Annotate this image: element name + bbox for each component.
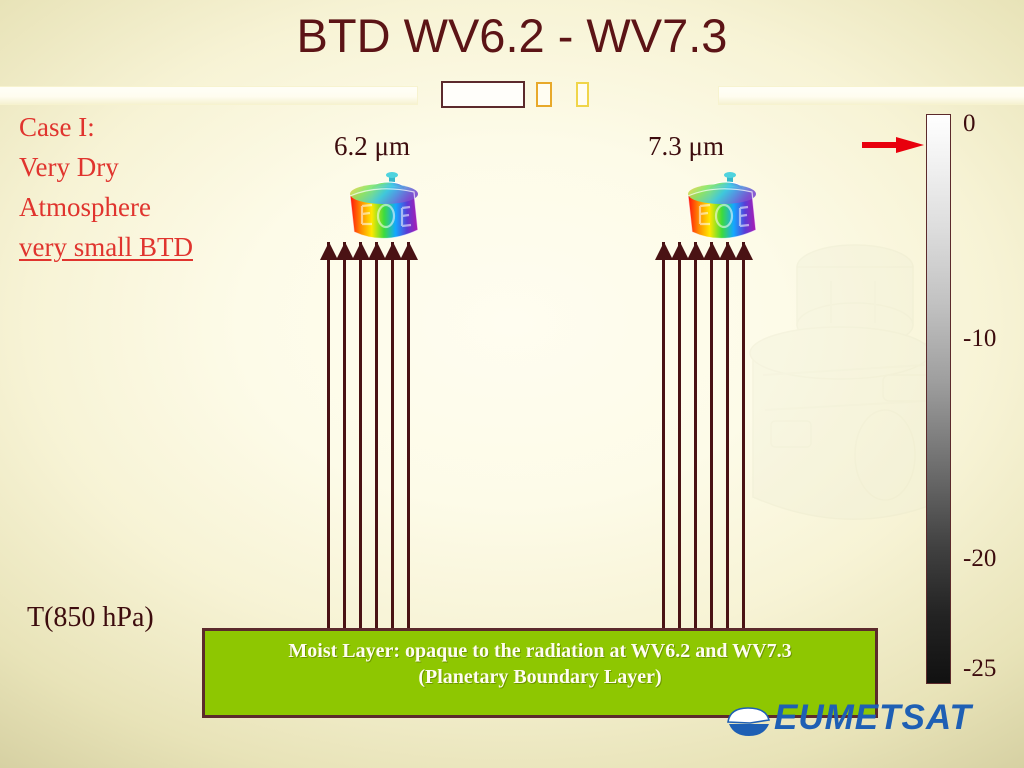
ray-line [359, 242, 362, 644]
ray-line [678, 242, 681, 644]
divider-box-small-1 [536, 82, 552, 107]
temperature-label: T(850 hPa) [27, 602, 154, 634]
ray-line [694, 242, 697, 644]
slide-title: BTD WV6.2 - WV7.3 [0, 8, 1024, 63]
case-line-1: Case I: [19, 107, 193, 147]
moist-layer-line-1: Moist Layer: opaque to the radiation at … [288, 638, 791, 664]
ray-line [375, 242, 378, 644]
ray-line [391, 242, 394, 644]
colorbar-tick-10: -10 [963, 325, 996, 353]
channel-label-wv73: 7.3 μm [648, 131, 724, 162]
colorbar-tick-25: -25 [963, 655, 996, 683]
red-arrow-icon [862, 136, 924, 154]
satellite-watermark-image [735, 225, 950, 555]
ray-line [662, 242, 665, 644]
ray-line [742, 242, 745, 644]
ray-line [726, 242, 729, 644]
ray-line [343, 242, 346, 644]
eumetsat-logo-text: EUMETSAT [774, 698, 972, 738]
eumetsat-logo: EUMETSAT [726, 700, 1006, 746]
divider-bar-left [0, 86, 418, 105]
ray-line [327, 242, 330, 644]
case-line-3: Atmosphere [19, 187, 193, 227]
satellite-icon-wv73 [682, 172, 764, 250]
divider-bar-right [718, 86, 1024, 105]
ray-line [407, 242, 410, 644]
ray-line [710, 242, 713, 644]
divider-box-small-2 [576, 82, 589, 107]
case-line-2: Very Dry [19, 147, 193, 187]
channel-label-wv62: 6.2 μm [334, 131, 410, 162]
colorbar-gradient [926, 114, 951, 684]
moist-layer-line-2: (Planetary Boundary Layer) [418, 664, 661, 690]
colorbar-tick-0: 0 [963, 110, 976, 138]
divider-box-main [441, 81, 525, 108]
colorbar-tick-20: -20 [963, 545, 996, 573]
case-annotation: Case I: Very Dry Atmosphere very small B… [19, 107, 193, 267]
slide-canvas: BTD WV6.2 - WV7.3 Case I: Very Dry Atmos… [0, 0, 1024, 768]
satellite-icon-wv62 [344, 172, 426, 250]
case-line-4: very small BTD [19, 227, 193, 267]
